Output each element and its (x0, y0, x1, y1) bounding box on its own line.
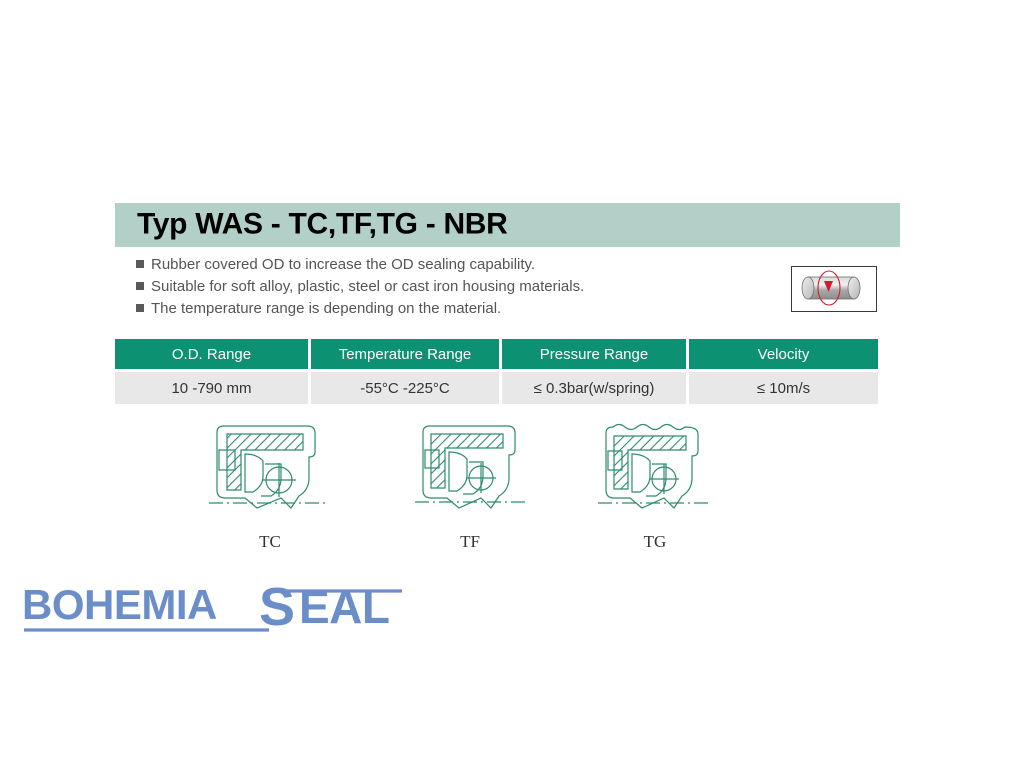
page-title: Typ WAS - TC,TF,TG - NBR (137, 207, 508, 241)
list-item: The temperature range is depending on th… (136, 300, 736, 322)
table-row: 10 -790 mm -55°C -225°C ≤ 0.3bar(w/sprin… (115, 372, 875, 404)
cell-od-range: 10 -790 mm (115, 372, 308, 404)
cell-pressure-range: ≤ 0.3bar(w/spring) (502, 372, 686, 404)
bullet-square-icon (136, 304, 144, 312)
seal-label-tf: TF (395, 532, 545, 552)
logo-svg: BOHEMIA S EAL (16, 578, 416, 640)
column-header-temperature-range: Temperature Range (311, 339, 499, 369)
seal-diagram-tf: TF (395, 420, 545, 552)
list-item: Rubber covered OD to increase the OD sea… (136, 256, 736, 278)
column-header-velocity: Velocity (689, 339, 878, 369)
column-header-pressure-range: Pressure Range (502, 339, 686, 369)
cell-temperature-range: -55°C -225°C (311, 372, 499, 404)
logo-text-s: S (259, 578, 295, 637)
logo-text-bohemia: BOHEMIA (22, 581, 217, 628)
feature-text: Suitable for soft alloy, plastic, steel … (151, 278, 584, 295)
spec-table: O.D. Range Temperature Range Pressure Ra… (115, 339, 875, 404)
shaft-svg (792, 267, 873, 308)
bullet-square-icon (136, 260, 144, 268)
logo-text-eal: EAL (299, 581, 390, 633)
seal-tg-svg (580, 420, 730, 525)
column-header-od-range: O.D. Range (115, 339, 308, 369)
feature-text: Rubber covered OD to increase the OD sea… (151, 256, 535, 273)
seal-tf-svg (395, 420, 545, 525)
cell-velocity: ≤ 10m/s (689, 372, 878, 404)
bullet-square-icon (136, 282, 144, 290)
table-header-row: O.D. Range Temperature Range Pressure Ra… (115, 339, 875, 369)
company-logo: BOHEMIA S EAL (16, 578, 416, 640)
feature-text: The temperature range is depending on th… (151, 300, 501, 317)
rotating-shaft-icon (791, 266, 877, 312)
seal-tc-svg (195, 420, 345, 525)
list-item: Suitable for soft alloy, plastic, steel … (136, 278, 736, 300)
seal-label-tg: TG (580, 532, 730, 552)
seal-label-tc: TC (195, 532, 345, 552)
seal-diagram-gallery: TC TF (195, 420, 755, 550)
feature-list: Rubber covered OD to increase the OD sea… (136, 256, 736, 322)
seal-diagram-tc: TC (195, 420, 345, 552)
title-banner: Typ WAS - TC,TF,TG - NBR (115, 203, 900, 247)
seal-diagram-tg: TG (580, 420, 730, 552)
